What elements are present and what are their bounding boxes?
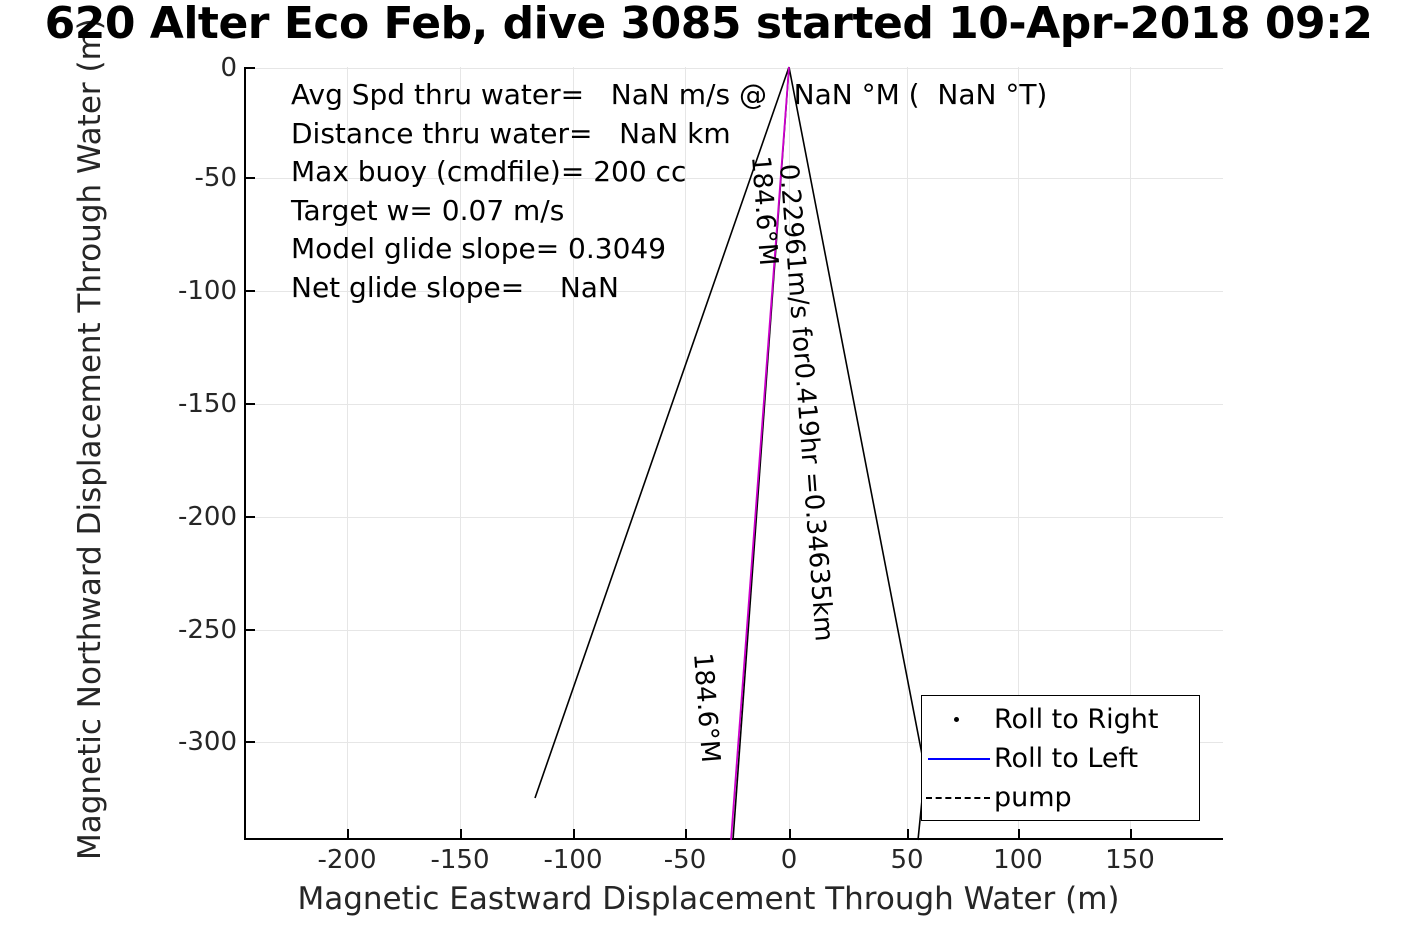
yticklabel--50: -50 xyxy=(195,163,237,193)
yticklabel--150: -150 xyxy=(178,389,237,419)
trace-descent-left xyxy=(535,67,789,798)
yticklabel-0: 0 xyxy=(220,53,237,83)
xticklabel-0: 0 xyxy=(781,845,798,875)
xticklabel-150: 150 xyxy=(1105,845,1155,875)
xticklabel--50: -50 xyxy=(664,845,706,875)
xticklabel--200: -200 xyxy=(317,845,376,875)
yticklabel--100: -100 xyxy=(178,276,237,306)
yticklabel--200: -200 xyxy=(178,502,237,532)
legend-item-roll-to-right[interactable]: Roll to Right xyxy=(922,700,1199,739)
yticklabel--300: -300 xyxy=(178,727,237,757)
x-axis-label: Magnetic Eastward Displacement Through W… xyxy=(0,880,1417,918)
xticklabel-50: 50 xyxy=(890,845,923,875)
xticklabel--150: -150 xyxy=(430,845,489,875)
legend-label-pump: pump xyxy=(994,783,1072,813)
xticklabel-100: 100 xyxy=(993,845,1043,875)
legend-label-roll-to-left: Roll to Left xyxy=(994,744,1138,774)
legend-item-pump[interactable]: pump xyxy=(922,778,1199,817)
xticklabel--100: -100 xyxy=(543,845,602,875)
legend-item-roll-to-left[interactable]: Roll to Left xyxy=(922,739,1199,778)
legend-box: Roll to Right Roll to Left pump xyxy=(921,695,1200,821)
trace-descent-right xyxy=(789,67,925,840)
legend-key-dot-marker-icon xyxy=(922,700,994,739)
figure-title: 620 Alter Eco Feb, dive 3085 started 10-… xyxy=(45,0,1373,50)
trace-net-displacement-magenta xyxy=(731,67,789,840)
legend-label-roll-to-right: Roll to Right xyxy=(994,705,1158,735)
y-axis-label-container: Magnetic Northward Displacement Through … xyxy=(70,100,110,860)
yticklabel--250: -250 xyxy=(178,615,237,645)
y-axis-label: Magnetic Northward Displacement Through … xyxy=(70,100,110,860)
legend-key-dashed-line-icon xyxy=(922,778,994,817)
legend-key-solid-line-icon xyxy=(922,739,994,778)
